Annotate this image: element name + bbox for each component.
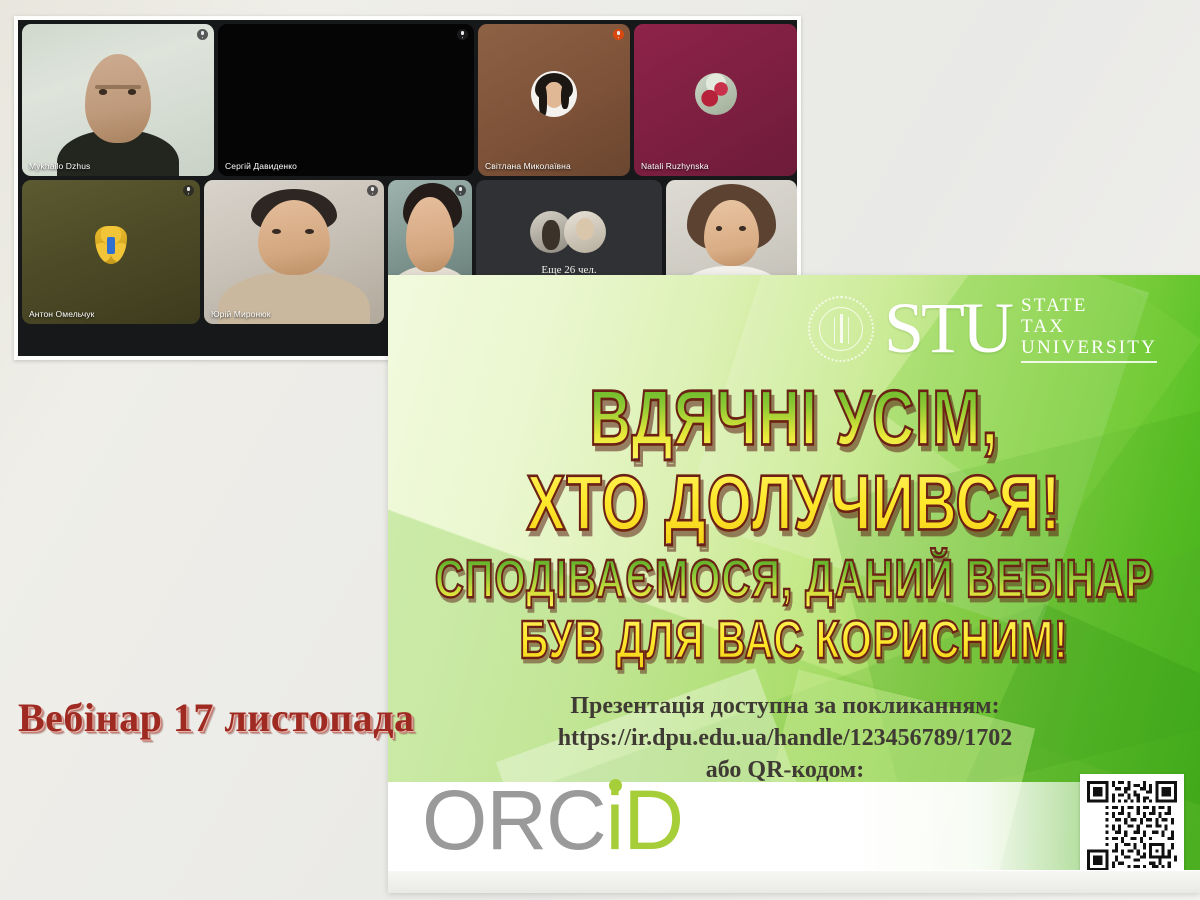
avatar-hair-left [539, 85, 547, 117]
university-name-line-1: STATE [1021, 295, 1157, 316]
avatar [531, 71, 577, 117]
portrait-face [406, 197, 453, 272]
participant-name: Сергій Давиденко [225, 161, 297, 171]
webinar-caption: Вебінар 17 листопада [18, 698, 414, 738]
portrait-face [704, 200, 759, 266]
mic-icon[interactable] [455, 185, 466, 196]
headline-line-3: СПОДІВАЄМОСЯ, ДАНИЙ ВЕБІНАР [388, 553, 1200, 608]
headline-line-2: ХТО ДОЛУЧИВСЯ! [388, 464, 1200, 543]
mic-icon[interactable] [367, 185, 378, 196]
university-emblem-icon [808, 296, 874, 362]
slide-headline: ВДЯЧНІ УСІМ, ХТО ДОЛУЧИВСЯ! СПОДІВАЄМОСЯ… [388, 379, 1200, 655]
coat-of-arms-icon [95, 226, 127, 264]
video-tile-participant[interactable]: Антон Омельчук [22, 180, 200, 324]
university-abbreviation: STU [884, 299, 1011, 358]
qr-code-image [1087, 781, 1177, 871]
orcid-logo-orc: ORC [422, 773, 606, 867]
portrait-face [85, 54, 150, 142]
avatar-hair-right [561, 85, 569, 109]
mic-icon[interactable] [457, 29, 468, 40]
headline-line-4: БУВ ДЛЯ ВАС КОРИСНИМ! [388, 614, 1200, 669]
mic-muted-icon[interactable] [613, 29, 624, 40]
participant-name: Natali Ruzhynska [641, 161, 709, 171]
participant-name: Юрій Миронюк [211, 309, 271, 319]
participant-name: Світлана Миколаївна [485, 161, 571, 171]
video-tile-participant[interactable]: Юрій Миронюк [204, 180, 384, 324]
avatar [564, 211, 606, 253]
link-intro-text: Презентація доступна за покликанням: [388, 690, 1182, 722]
video-tile-participant[interactable]: Mykhailo Dzhus [22, 24, 214, 176]
participant-portrait [22, 24, 214, 176]
video-tile-participant[interactable]: Світлана Миколаївна [478, 24, 630, 176]
avatar [695, 73, 737, 115]
university-logo: STU STATE TAX UNIVERSITY [808, 283, 1198, 375]
avatar-group [530, 211, 608, 253]
presentation-link-block: Презентація доступна за покликанням: htt… [388, 690, 1182, 786]
video-tile-participant[interactable]: Сергій Давиденко [218, 24, 474, 176]
portrait-eye-left [99, 89, 108, 94]
presentation-slide: STU STATE TAX UNIVERSITY ВДЯЧНІ УСІМ, ХТ… [388, 275, 1200, 892]
mic-icon[interactable] [183, 185, 194, 196]
portrait-eye-right [128, 89, 137, 94]
participant-portrait [204, 180, 384, 324]
mic-icon[interactable] [197, 29, 208, 40]
participant-name: Mykhailo Dzhus [29, 161, 90, 171]
more-participants-label: Еще 26 чел. [476, 264, 662, 276]
orcid-logo: ORCiD [422, 778, 683, 862]
slide-footer-band [388, 870, 1200, 893]
university-name: STATE TAX UNIVERSITY [1021, 295, 1157, 364]
university-name-line-3: UNIVERSITY [1021, 337, 1157, 363]
participant-name: Антон Омельчук [29, 309, 94, 319]
video-tile-participant[interactable]: Natali Ruzhynska [634, 24, 797, 176]
qr-code[interactable] [1080, 774, 1184, 878]
orcid-logo-dot [609, 779, 622, 792]
headline-line-1: ВДЯЧНІ УСІМ, [388, 379, 1200, 458]
portrait-eye-right [739, 226, 746, 231]
portrait-eye-right [305, 229, 314, 234]
university-name-line-2: TAX [1021, 316, 1157, 337]
presentation-url[interactable]: https://ir.dpu.edu.ua/handle/123456789/1… [388, 722, 1182, 754]
orcid-logo-id: iD [606, 773, 683, 867]
